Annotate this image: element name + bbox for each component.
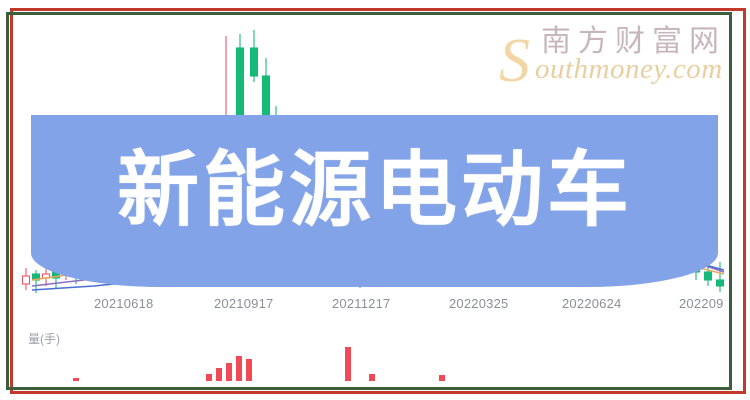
volume-bar bbox=[73, 378, 79, 381]
volume-bar bbox=[369, 374, 375, 381]
volume-bar bbox=[246, 359, 252, 381]
candlestick bbox=[717, 262, 724, 292]
candlestick bbox=[23, 268, 30, 290]
x-axis-tick: 20211217 bbox=[332, 296, 390, 311]
volume-bar bbox=[206, 374, 212, 381]
volume-bar bbox=[439, 375, 445, 381]
x-axis-tick: 202209 bbox=[679, 296, 724, 311]
volume-bar bbox=[345, 347, 351, 381]
banner-title: 新能源电动车 bbox=[0, 148, 750, 234]
x-axis-tick: 20210618 bbox=[94, 296, 153, 311]
x-axis-tick: 20220624 bbox=[562, 296, 621, 311]
volume-chart bbox=[14, 333, 732, 388]
volume-bar bbox=[236, 356, 242, 381]
candlestick bbox=[251, 30, 258, 82]
volume-bar-series bbox=[73, 347, 445, 381]
x-axis-tick: 20220325 bbox=[449, 296, 508, 311]
x-axis-tick: 20210917 bbox=[214, 296, 273, 311]
x-axis-labels: 2021061820210917202112172022032520220624… bbox=[14, 296, 750, 318]
infographic-banner: 2021061820210917202112172022032520220624… bbox=[0, 0, 750, 400]
volume-axis-label: 量(手) bbox=[28, 330, 60, 347]
volume-bar bbox=[216, 368, 222, 381]
volume-bar bbox=[226, 363, 232, 381]
